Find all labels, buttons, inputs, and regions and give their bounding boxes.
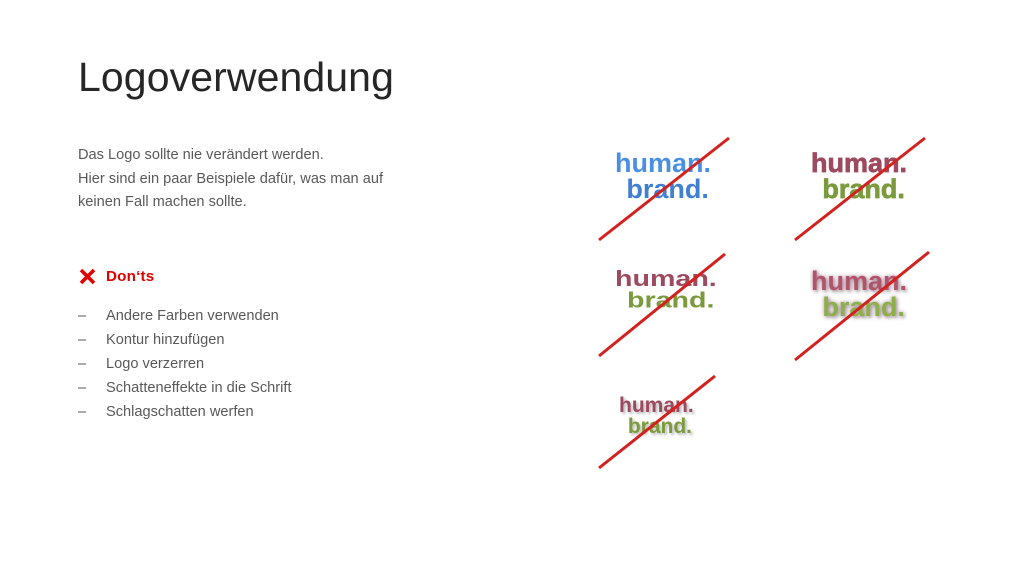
bullet-dash: – bbox=[78, 381, 106, 396]
logo-lockup: human. brand. bbox=[811, 268, 907, 321]
list-item-label: Schlagschatten werfen bbox=[106, 405, 254, 420]
logo-example-distorted: human. brand. bbox=[597, 246, 765, 364]
logo-line-brand: brand. bbox=[615, 176, 711, 202]
logo-line-human: human. bbox=[619, 396, 694, 417]
donts-label: Don‘ts bbox=[106, 268, 154, 285]
logo-line-human: human. bbox=[811, 150, 907, 176]
logo-line-brand: brand. bbox=[615, 290, 717, 312]
intro-paragraph: Das Logo sollte nie verändert werden. Hi… bbox=[78, 144, 538, 215]
logo-line-human: human. bbox=[615, 150, 711, 176]
logo-lockup: human. brand. bbox=[811, 150, 907, 203]
list-item: – Logo verzerren bbox=[78, 357, 538, 372]
list-item-label: Logo verzerren bbox=[106, 357, 204, 372]
logo-line-human: human. bbox=[615, 268, 717, 290]
donts-list: – Andere Farben verwenden – Kontur hinzu… bbox=[78, 309, 538, 420]
list-item-label: Kontur hinzufügen bbox=[106, 333, 224, 348]
list-item: – Andere Farben verwenden bbox=[78, 309, 538, 324]
logo-example-outline: human. brand. bbox=[793, 128, 961, 246]
bullet-dash: – bbox=[78, 309, 106, 324]
list-item-label: Andere Farben verwenden bbox=[106, 309, 279, 324]
intro-line-1: Das Logo sollte nie verändert werden. bbox=[78, 144, 538, 168]
bullet-dash: – bbox=[78, 405, 106, 420]
slide-canvas: Logoverwendung Das Logo sollte nie verän… bbox=[0, 0, 1024, 576]
content-column: Logoverwendung Das Logo sollte nie verän… bbox=[78, 55, 538, 429]
list-item: – Schatteneffekte in die Schrift bbox=[78, 381, 538, 396]
page-title: Logoverwendung bbox=[78, 55, 538, 100]
logo-lockup: human. brand. bbox=[619, 396, 694, 437]
logo-lockup: human. brand. bbox=[615, 268, 717, 311]
bullet-dash: – bbox=[78, 357, 106, 372]
logo-line-brand: brand. bbox=[811, 294, 907, 320]
list-item-label: Schatteneffekte in die Schrift bbox=[106, 381, 292, 396]
logo-line-brand: brand. bbox=[619, 417, 694, 438]
logo-example-wrong-colors: human. brand. bbox=[597, 128, 765, 246]
list-item: – Schlagschatten werfen bbox=[78, 405, 538, 420]
logo-lockup: human. brand. bbox=[615, 150, 711, 203]
intro-line-3: keinen Fall machen sollte. bbox=[78, 191, 538, 215]
red-x-icon bbox=[78, 267, 97, 286]
list-item: – Kontur hinzufügen bbox=[78, 333, 538, 348]
logo-example-drop-shadow: human. brand. bbox=[597, 368, 765, 486]
donts-heading: Don‘ts bbox=[78, 267, 538, 286]
logo-line-human: human. bbox=[811, 268, 907, 294]
intro-line-2: Hier sind ein paar Beispiele dafür, was … bbox=[78, 168, 538, 192]
logo-examples-grid: human. brand. human. brand. human. brand… bbox=[575, 128, 995, 478]
bullet-dash: – bbox=[78, 333, 106, 348]
logo-line-brand: brand. bbox=[811, 176, 907, 202]
logo-example-text-shadow: human. brand. bbox=[793, 246, 961, 364]
